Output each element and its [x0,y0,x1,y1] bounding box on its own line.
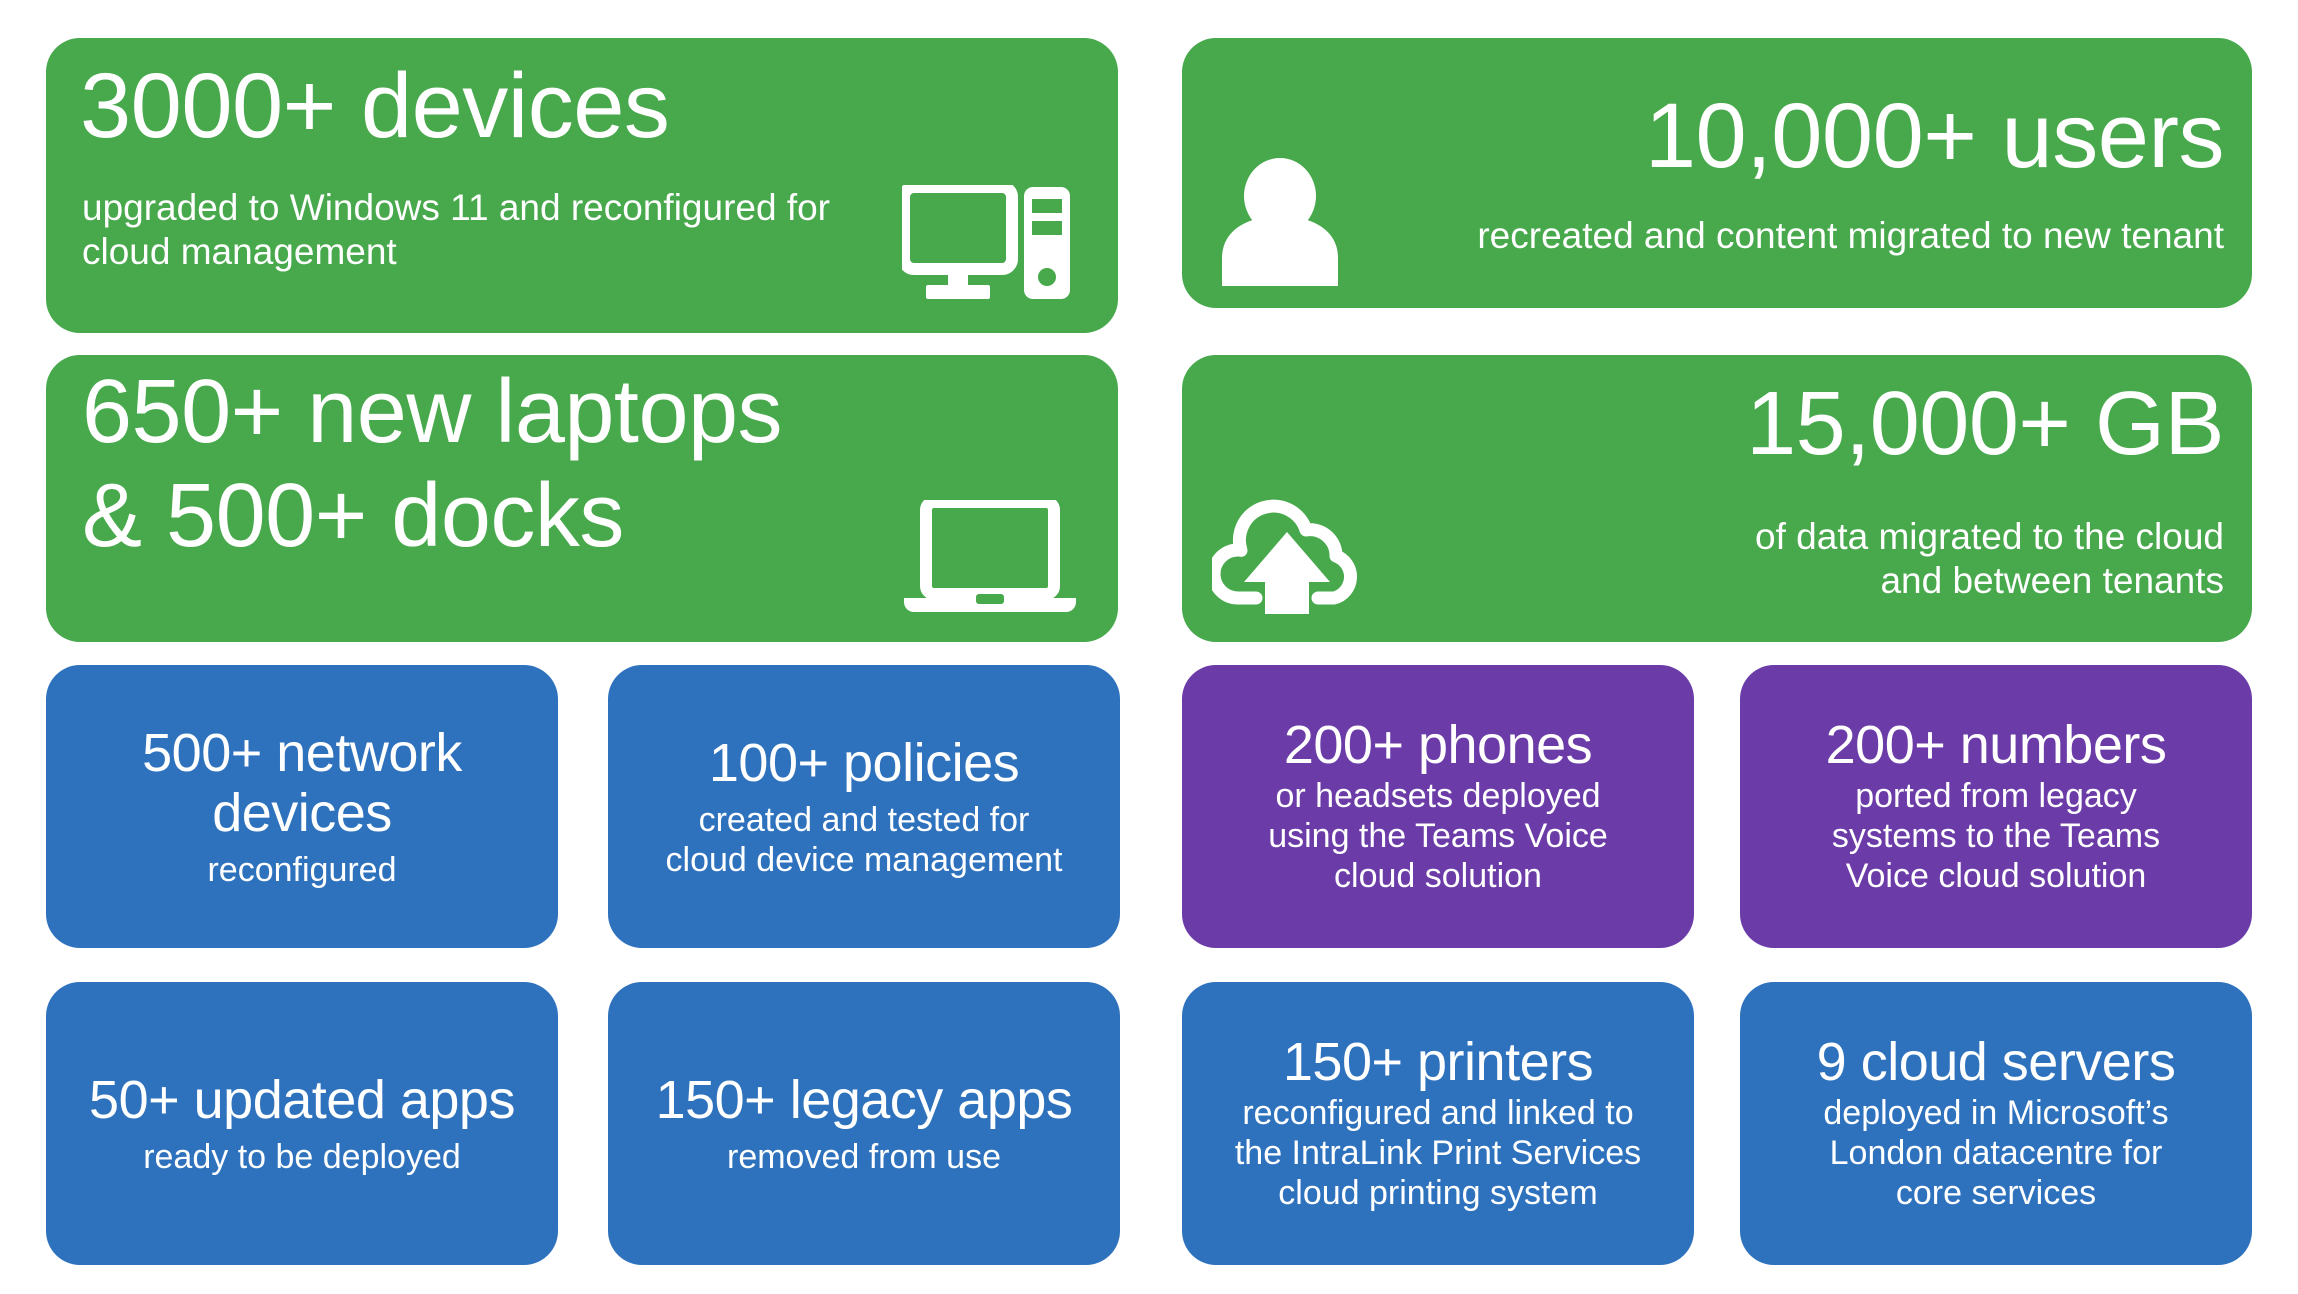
laptop-icon [902,500,1078,612]
devices-description: upgraded to Windows 11 and reconfigured … [82,186,902,273]
stat-card-policies: 100+ policies created and tested for clo… [608,665,1120,948]
policies-headline: 100+ policies [709,733,1019,793]
stat-card-data-migrated: 15,000+ GB of data migrated to the cloud… [1182,355,2252,642]
network-headline: 500+ network devices [62,723,542,844]
servers-description-line1: deployed in Microsoft’s [1823,1093,2168,1133]
laptops-headline-line2: & 500+ docks [82,471,624,563]
servers-headline: 9 cloud servers [1817,1034,2176,1091]
printers-headline: 150+ printers [1283,1034,1593,1091]
stat-card-network-devices: 500+ network devices reconfigured [46,665,558,948]
numbers-headline: 200+ numbers [1826,717,2167,774]
updated-apps-headline: 50+ updated apps [89,1070,515,1130]
devices-headline: 3000+ devices [80,60,669,154]
stat-card-updated-apps: 50+ updated apps ready to be deployed [46,982,558,1265]
numbers-description-line1: ported from legacy [1832,776,2160,816]
policies-description-line1: created and tested for [666,800,1063,840]
laptops-headline-line1: 650+ new laptops [82,367,782,459]
numbers-description: ported from legacy systems to the Teams … [1832,776,2160,896]
desktop-computer-icon [902,185,1072,301]
policies-description-line2: cloud device management [666,840,1063,880]
servers-description-line2: London datacentre for [1823,1133,2168,1173]
stat-card-printers: 150+ printers reconfigured and linked to… [1182,982,1694,1265]
numbers-description-line3: Voice cloud solution [1832,856,2160,896]
stat-card-users: 10,000+ users recreated and content migr… [1182,38,2252,308]
data-headline: 15,000+ GB [1746,379,2224,471]
legacy-apps-headline: 150+ legacy apps [656,1070,1073,1130]
users-description: recreated and content migrated to new te… [1477,214,2224,258]
stat-card-phones: 200+ phones or headsets deployed using t… [1182,665,1694,948]
phones-description-line3: cloud solution [1268,856,1608,896]
stat-card-legacy-apps: 150+ legacy apps removed from use [608,982,1120,1265]
stat-card-laptops: 650+ new laptops & 500+ docks [46,355,1118,642]
printers-description: reconfigured and linked to the IntraLink… [1235,1093,1641,1213]
data-description: of data migrated to the cloud and betwee… [1755,515,2224,602]
policies-description: created and tested for cloud device mana… [666,800,1063,880]
servers-description-line3: core services [1823,1173,2168,1213]
cloud-upload-icon [1212,486,1362,614]
network-description: reconfigured [207,850,396,890]
servers-description: deployed in Microsoft’s London datacentr… [1823,1093,2168,1213]
numbers-description-line2: systems to the Teams [1832,816,2160,856]
printers-description-line1: reconfigured and linked to [1235,1093,1641,1133]
updated-apps-description: ready to be deployed [143,1137,461,1177]
legacy-apps-description: removed from use [727,1137,1001,1177]
phones-description: or headsets deployed using the Teams Voi… [1268,776,1608,896]
data-description-line1: of data migrated to the cloud [1755,515,2224,559]
phones-description-line2: using the Teams Voice [1268,816,1608,856]
phones-headline: 200+ phones [1284,717,1592,774]
stat-card-numbers: 200+ numbers ported from legacy systems … [1740,665,2252,948]
infographic-board: 3000+ devices upgraded to Windows 11 and… [0,0,2298,1294]
users-headline: 10,000+ users [1645,90,2224,184]
printers-description-line2: the IntraLink Print Services [1235,1133,1641,1173]
data-description-line2: and between tenants [1755,559,2224,603]
printers-description-line3: cloud printing system [1235,1173,1641,1213]
stat-card-cloud-servers: 9 cloud servers deployed in Microsoft’s … [1740,982,2252,1265]
stat-card-devices: 3000+ devices upgraded to Windows 11 and… [46,38,1118,333]
person-icon [1218,158,1342,286]
phones-description-line1: or headsets deployed [1268,776,1608,816]
